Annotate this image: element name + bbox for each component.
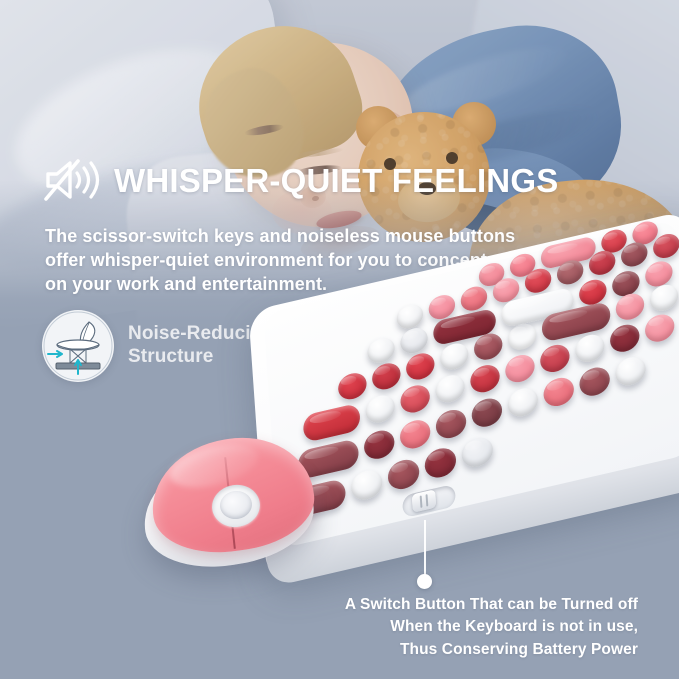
keycap[interactable] xyxy=(396,302,424,331)
keycap[interactable] xyxy=(461,435,494,470)
callout-caption: A Switch Button That can be Turned off W… xyxy=(218,594,638,661)
keycap[interactable] xyxy=(337,370,367,402)
keycap[interactable] xyxy=(614,354,646,388)
keycap[interactable] xyxy=(365,393,396,426)
product-feature-banner: WHISPER-QUIET FEELINGS The scissor-switc… xyxy=(0,0,679,679)
keycap[interactable] xyxy=(387,457,420,492)
keycap[interactable] xyxy=(574,332,605,365)
keycap[interactable] xyxy=(504,352,535,385)
keycap[interactable] xyxy=(609,322,640,355)
callout-leader-line xyxy=(424,520,426,578)
keycap[interactable] xyxy=(367,335,396,366)
noise-reducing-structure-icon xyxy=(42,310,114,382)
keycap[interactable] xyxy=(579,365,611,399)
body-line-1: The scissor-switch keys and noiseless mo… xyxy=(45,225,565,249)
keycap-cross-section-glyph xyxy=(42,310,114,382)
keycap[interactable] xyxy=(405,351,435,383)
keycap[interactable] xyxy=(507,385,539,419)
keycap[interactable] xyxy=(435,407,467,441)
caption-line-3: Thus Conserving Battery Power xyxy=(218,639,638,661)
keycap[interactable] xyxy=(424,445,457,480)
keycap[interactable] xyxy=(539,342,570,375)
keycap[interactable] xyxy=(460,284,488,313)
keycap[interactable] xyxy=(469,362,500,395)
keycap[interactable] xyxy=(371,360,401,392)
keycap[interactable] xyxy=(435,372,466,405)
keycap[interactable] xyxy=(400,325,429,356)
keycap[interactable] xyxy=(471,396,503,430)
feature-badge: Noise-Reducing Structure xyxy=(42,310,274,382)
keycap[interactable] xyxy=(363,428,395,462)
keycap[interactable] xyxy=(399,417,431,451)
caption-line-1: A Switch Button That can be Turned off xyxy=(218,594,638,616)
keycap[interactable] xyxy=(400,382,431,415)
page-title: WHISPER-QUIET FEELINGS xyxy=(114,164,558,197)
keycap[interactable] xyxy=(644,312,675,345)
keycap[interactable] xyxy=(350,467,383,502)
callout-dot xyxy=(417,574,432,589)
wireless-mouse xyxy=(143,433,318,568)
caption-line-2: When the Keyboard is not in use, xyxy=(218,616,638,638)
muted-speaker-icon xyxy=(44,158,100,202)
keycap[interactable] xyxy=(439,341,469,373)
headline-row: WHISPER-QUIET FEELINGS xyxy=(44,158,558,202)
keycap[interactable] xyxy=(649,282,679,314)
keycap[interactable] xyxy=(543,375,575,409)
